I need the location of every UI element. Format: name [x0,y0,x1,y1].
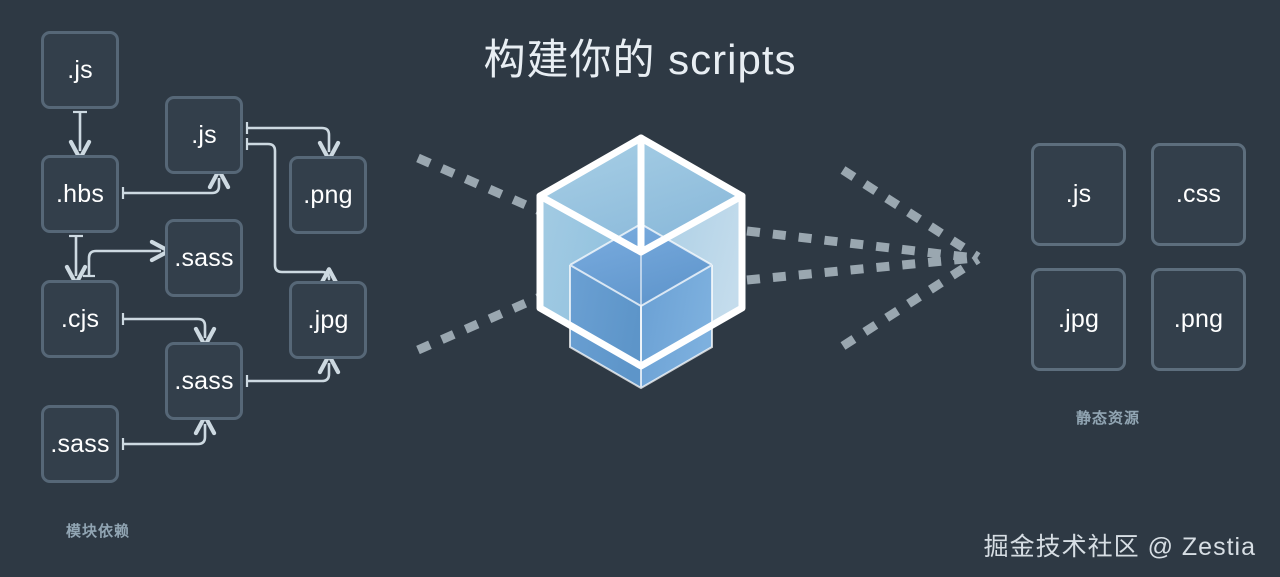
module-box-jpg[interactable]: .jpg [289,281,367,359]
asset-label: .png [1174,305,1223,334]
asset-label: .js [1066,180,1092,209]
module-label: .js [67,56,93,85]
module-label: .sass [174,367,233,396]
asset-box-png[interactable]: .png [1151,268,1246,371]
module-box-sass-2[interactable]: .sass [165,342,243,420]
asset-label: .css [1176,180,1221,209]
asset-box-jpg[interactable]: .jpg [1031,268,1126,371]
module-label: .sass [50,430,109,459]
cube-outer-edges [540,138,742,366]
module-box-sass-3[interactable]: .sass [41,405,119,483]
asset-box-js[interactable]: .js [1031,143,1126,246]
module-label: .jpg [307,306,348,335]
right-panel-caption: 静态资源 [1076,407,1140,428]
diagram-canvas: 构建你的 scripts [0,0,1280,577]
module-box-js-2[interactable]: .js [165,96,243,174]
module-box-js-1[interactable]: .js [41,31,119,109]
cube-outer-seams [540,252,742,366]
outbound-dashed-line-top [747,231,975,258]
arrowhead-lower [843,259,978,346]
module-box-hbs[interactable]: .hbs [41,155,119,233]
module-label: .cjs [61,305,99,334]
asset-label: .jpg [1058,305,1099,334]
module-label: .png [303,181,352,210]
module-box-cjs[interactable]: .cjs [41,280,119,358]
cube-outer [540,138,742,366]
cube-inner-edges [570,224,712,388]
module-label: .sass [174,244,233,273]
module-box-sass-1[interactable]: .sass [165,219,243,297]
inbound-dashed-line-bottom [418,296,542,350]
outbound-dashed-line-bottom [747,258,975,280]
page-title: 构建你的 scripts [0,26,1280,87]
module-label: .js [191,121,217,150]
asset-box-css[interactable]: .css [1151,143,1246,246]
module-label: .hbs [56,180,104,209]
inbound-dashed-line-top [418,158,542,212]
watermark: 掘金技术社区 @ Zestia [984,527,1256,563]
cube-inner [570,224,712,388]
module-box-png[interactable]: .png [289,156,367,234]
left-panel-caption: 模块依赖 [66,520,130,541]
arrowhead-upper [843,170,978,257]
